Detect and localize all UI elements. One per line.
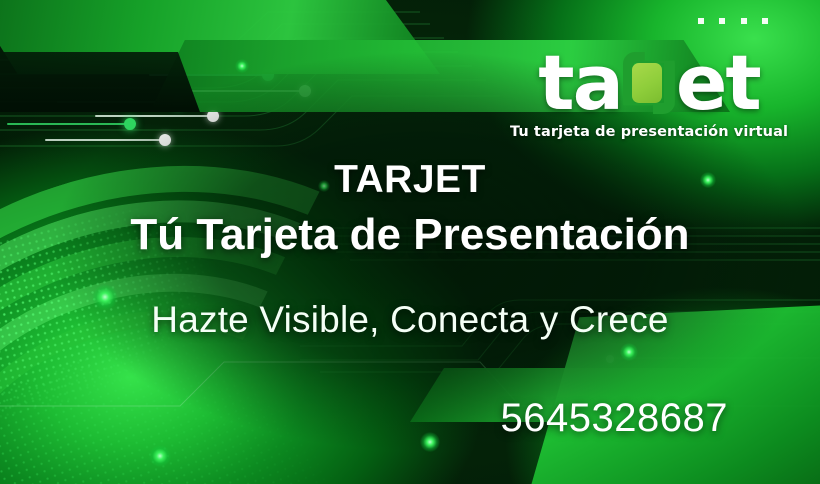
marketing-slogan: Hazte Visible, Conecta y Crece bbox=[0, 299, 820, 341]
tarjet-logo[interactable]: ta et Tu tarjeta de presentación virtual bbox=[508, 44, 790, 152]
phone-number[interactable]: 5645328687 bbox=[501, 396, 728, 441]
logo-wordmark: ta et bbox=[508, 44, 790, 122]
brand-title: TARJET bbox=[0, 158, 820, 202]
brand-subtitle: Tú Tarjeta de Presentación bbox=[0, 210, 820, 260]
polygon-shadow-top-left bbox=[0, 52, 200, 112]
chip-shape bbox=[632, 63, 662, 103]
business-card-banner: ta et Tu tarjeta de presentación virtual… bbox=[0, 0, 820, 484]
card-bracket-icon bbox=[623, 52, 675, 114]
logo-word-after: et bbox=[676, 45, 760, 121]
logo-word-before: ta bbox=[538, 45, 622, 121]
